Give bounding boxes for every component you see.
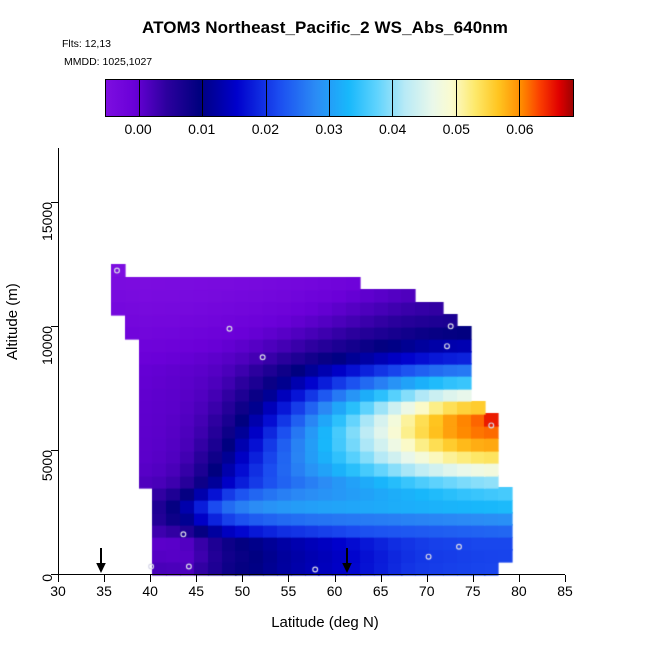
x-axis-tick-label: 75 (465, 583, 481, 599)
x-axis-tick (104, 575, 105, 582)
x-axis-tick-label: 40 (142, 583, 158, 599)
x-axis-tick (58, 575, 59, 582)
x-axis-tick-label: 30 (50, 583, 66, 599)
flight-marker-arrow (94, 548, 108, 574)
x-axis-tick (381, 575, 382, 582)
x-axis-tick-label: 55 (281, 583, 297, 599)
x-axis-tick (427, 575, 428, 582)
x-axis-tick (335, 575, 336, 582)
x-axis-tick-label: 85 (557, 583, 573, 599)
x-axis-tick-label: 80 (511, 583, 527, 599)
x-axis-tick-label: 50 (235, 583, 251, 599)
x-axis-tick (196, 575, 197, 582)
x-axis-tick (242, 575, 243, 582)
x-axis-tick-label: 65 (373, 583, 389, 599)
x-axis-tick (519, 575, 520, 582)
y-axis-line (58, 148, 59, 574)
x-axis-tick (288, 575, 289, 582)
flight-marker-arrow (340, 548, 354, 574)
x-axis-tick (473, 575, 474, 582)
x-axis-tick-label: 35 (96, 583, 112, 599)
x-axis-title: Latitude (deg N) (0, 614, 650, 631)
plot-root: ATOM3 Northeast_Pacific_2 WS_Abs_640nm F… (0, 0, 650, 650)
plot-axes: 303540455055606570758085050001000015000 (0, 0, 650, 650)
x-axis-tick-label: 45 (188, 583, 204, 599)
y-axis-tick-label: 10000 (39, 326, 55, 365)
y-axis-tick-label: 0 (39, 574, 55, 582)
x-axis-tick (150, 575, 151, 582)
x-axis-tick-label: 60 (327, 583, 343, 599)
x-axis-tick-label: 70 (419, 583, 435, 599)
x-axis-tick (565, 575, 566, 582)
y-axis-title: Altitude (m) (4, 283, 21, 360)
y-axis-tick-label: 5000 (39, 450, 55, 481)
y-axis-tick-label: 15000 (39, 202, 55, 241)
x-axis-line (58, 574, 565, 575)
